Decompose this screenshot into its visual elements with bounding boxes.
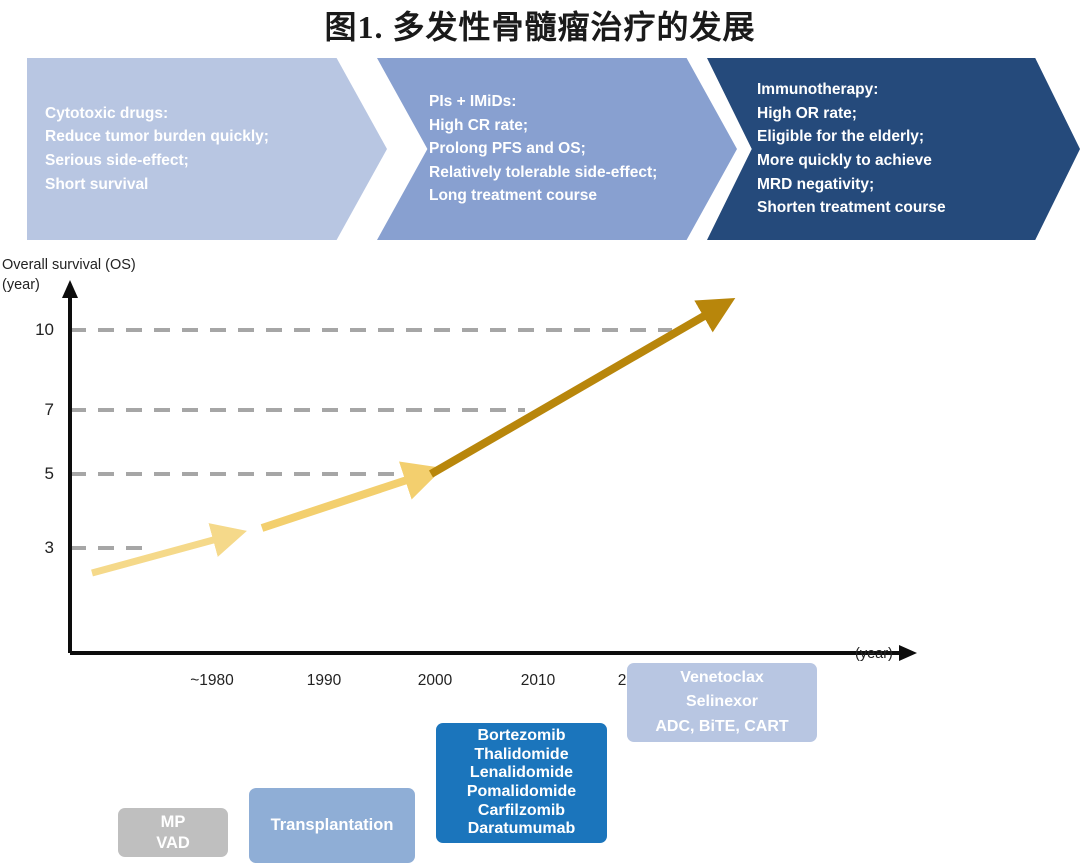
overall-survival-chart: Overall survival (OS) (year) (year) 10 7… <box>0 240 1080 697</box>
x-axis-arrowhead <box>899 645 917 661</box>
y-tick-5: 5 <box>18 464 54 484</box>
y-axis-label: Overall survival (OS) (year) <box>2 256 136 295</box>
x-tick-1990: 1990 <box>284 672 364 690</box>
y-tick-3: 3 <box>18 538 54 558</box>
x-tick-2010: 2010 <box>498 672 578 690</box>
page-title: 图1. 多发性骨髓瘤治疗的发展 <box>0 2 1080 48</box>
trend-arrow-early <box>92 536 228 573</box>
chevron-stage-cytotoxic-drugs: Cytotoxic drugs: Reduce tumor burden qui… <box>27 58 387 240</box>
chart-canvas <box>0 240 1080 697</box>
y-tick-10: 10 <box>18 320 54 340</box>
x-tick-2000: 2000 <box>395 672 475 690</box>
era-box-novel-agents: Bortezomib Thalidomide Lenalidomide Poma… <box>436 723 607 843</box>
era-box-emerging-agents: Venetoclax Selinexor ADC, BiTE, CART <box>627 663 817 742</box>
treatment-era-banner: Cytotoxic drugs: Reduce tumor burden qui… <box>0 58 1080 240</box>
y-tick-7: 7 <box>18 400 54 420</box>
x-axis-label: (year) <box>855 645 893 665</box>
chevron-stage-immunotherapy-text: Immunotherapy: High OR rate; Eligible fo… <box>757 78 946 219</box>
era-box-transplantation: Transplantation <box>249 788 415 863</box>
chevron-stage-immunotherapy: Immunotherapy: High OR rate; Eligible fo… <box>707 58 1080 240</box>
chevron-stage-pis-imids: PIs + IMiDs: High CR rate; Prolong PFS a… <box>377 58 737 240</box>
era-box-mp-vad: MP VAD <box>118 808 228 857</box>
trend-arrow-novel <box>431 308 718 474</box>
chevron-stage-cytotoxic-drugs-text: Cytotoxic drugs: Reduce tumor burden qui… <box>45 102 269 196</box>
trend-arrow-transplant <box>262 475 422 528</box>
chevron-stage-pis-imids-text: PIs + IMiDs: High CR rate; Prolong PFS a… <box>429 90 657 208</box>
x-tick-1980: ~1980 <box>172 672 252 690</box>
